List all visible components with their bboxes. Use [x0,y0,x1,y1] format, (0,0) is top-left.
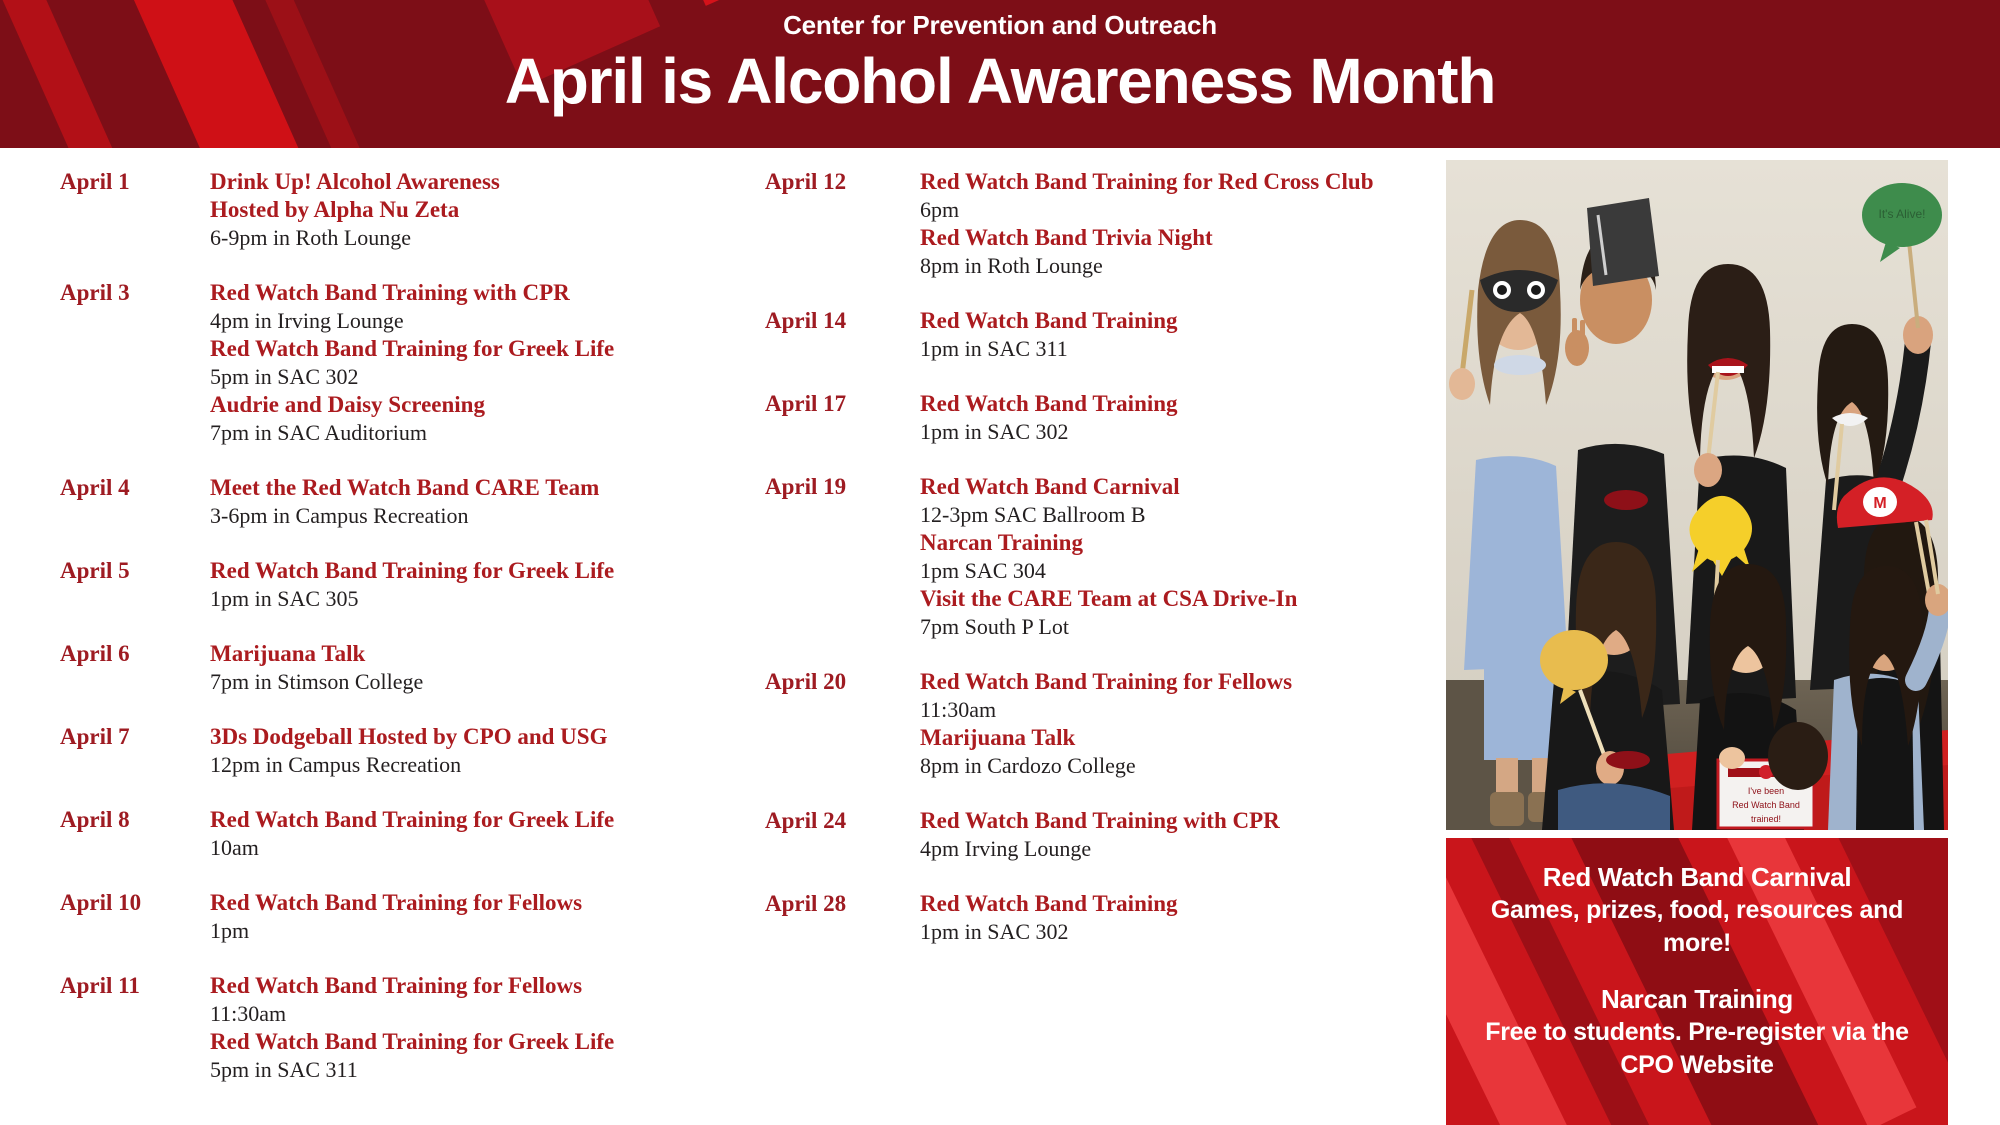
event-title: Visit the CARE Team at CSA Drive-In [920,585,1445,613]
event-row: April 11Red Watch Band Training for Fell… [60,972,760,1084]
event-title: Red Watch Band Training with CPR [920,807,1445,835]
event-detail: 1pm in SAC 302 [920,918,1445,946]
event-body: Red Watch Band Training for Greek Life1p… [210,557,760,613]
event-body: Red Watch Band Carnival12-3pm SAC Ballro… [920,473,1445,641]
event-date: April 4 [60,474,210,502]
event-date: April 11 [60,972,210,1000]
event-row: April 8Red Watch Band Training for Greek… [60,806,760,862]
event-row: April 3Red Watch Band Training with CPR4… [60,279,760,447]
event-date: April 14 [765,307,920,335]
event-detail: 7pm in Stimson College [210,668,760,696]
event-title: Narcan Training [920,529,1445,557]
event-row: April 17Red Watch Band Training1pm in SA… [765,390,1445,446]
event-date: April 19 [765,473,920,501]
svg-text:Red Watch Band: Red Watch Band [1732,800,1800,810]
event-date: April 28 [765,890,920,918]
event-date: April 20 [765,668,920,696]
event-body: Red Watch Band Training for Fellows1pm [210,889,760,945]
event-detail: 1pm [210,917,760,945]
event-title: Red Watch Band Training for Greek Life [210,806,760,834]
event-title: Marijuana Talk [920,724,1445,752]
event-detail: 12pm in Campus Recreation [210,751,760,779]
event-title: Red Watch Band Training [920,307,1445,335]
event-detail: 1pm in SAC 302 [920,418,1445,446]
page-title: April is Alcohol Awareness Month [505,45,1496,119]
event-title: Red Watch Band Training [920,890,1445,918]
event-body: Red Watch Band Training1pm in SAC 302 [920,890,1445,946]
event-detail: 8pm in Roth Lounge [920,252,1445,280]
event-detail: 1pm in SAC 305 [210,585,760,613]
event-title: Red Watch Band Training for Greek Life [210,1028,760,1056]
event-detail: 8pm in Cardozo College [920,752,1445,780]
event-detail: 5pm in SAC 311 [210,1056,760,1084]
event-title: Hosted by Alpha Nu Zeta [210,196,760,224]
event-date: April 6 [60,640,210,668]
event-row: April 20Red Watch Band Training for Fell… [765,668,1445,780]
event-detail: 4pm in Irving Lounge [210,307,760,335]
event-detail: 10am [210,834,760,862]
event-detail: 5pm in SAC 302 [210,363,760,391]
event-title: Red Watch Band Training for Fellows [210,972,760,1000]
group-photo: It's Alive! M [1446,160,1948,830]
event-detail: 11:30am [210,1000,760,1028]
header-subtitle: Center for Prevention and Outreach [783,10,1217,41]
event-detail: 7pm in SAC Auditorium [210,419,760,447]
event-row: April 24Red Watch Band Training with CPR… [765,807,1445,863]
event-title: 3Ds Dodgeball Hosted by CPO and USG [210,723,760,751]
event-date: April 5 [60,557,210,585]
event-date: April 24 [765,807,920,835]
event-body: 3Ds Dodgeball Hosted by CPO and USG12pm … [210,723,760,779]
event-title: Red Watch Band Training for Greek Life [210,557,760,585]
svg-text:trained!: trained! [1751,814,1781,824]
event-body: Red Watch Band Training1pm in SAC 311 [920,307,1445,363]
header-banner: Center for Prevention and Outreach April… [0,0,2000,148]
event-title: Marijuana Talk [210,640,760,668]
svg-text:M: M [1873,495,1886,512]
event-title: Red Watch Band Training for Fellows [210,889,760,917]
event-title: Audrie and Daisy Screening [210,391,760,419]
infobox-body-text: Free to students. Pre-register via the C… [1474,1016,1920,1082]
event-detail: 3-6pm in Campus Recreation [210,502,760,530]
event-row: April 14Red Watch Band Training1pm in SA… [765,307,1445,363]
event-title: Red Watch Band Training for Fellows [920,668,1445,696]
event-body: Red Watch Band Training for Fellows11:30… [920,668,1445,780]
event-detail: 4pm Irving Lounge [920,835,1445,863]
infobox-spacer [1474,960,1920,982]
event-detail: 11:30am [920,696,1445,724]
event-title: Red Watch Band Training for Red Cross Cl… [920,168,1445,196]
info-box: Red Watch Band CarnivalGames, prizes, fo… [1446,838,1948,1125]
event-title: Drink Up! Alcohol Awareness [210,168,760,196]
event-body: Marijuana Talk7pm in Stimson College [210,640,760,696]
event-row: April 28Red Watch Band Training1pm in SA… [765,890,1445,946]
event-date: April 7 [60,723,210,751]
events-column-right: April 12Red Watch Band Training for Red … [765,168,1445,946]
infobox-heading: Red Watch Band Carnival [1474,860,1920,894]
events-column-left: April 1Drink Up! Alcohol AwarenessHosted… [60,168,760,1084]
event-title: Red Watch Band Training with CPR [210,279,760,307]
event-detail: 7pm South P Lot [920,613,1445,641]
event-row: April 19Red Watch Band Carnival12-3pm SA… [765,473,1445,641]
event-body: Red Watch Band Training for Red Cross Cl… [920,168,1445,280]
event-row: April 5Red Watch Band Training for Greek… [60,557,760,613]
event-date: April 17 [765,390,920,418]
event-title: Meet the Red Watch Band CARE Team [210,474,760,502]
event-row: April 6Marijuana Talk7pm in Stimson Coll… [60,640,760,696]
event-date: April 3 [60,279,210,307]
event-row: April 10Red Watch Band Training for Fell… [60,889,760,945]
infobox-heading: Narcan Training [1474,982,1920,1016]
event-body: Meet the Red Watch Band CARE Team3-6pm i… [210,474,760,530]
svg-text:It's Alive!: It's Alive! [1879,207,1926,221]
event-row: April 4Meet the Red Watch Band CARE Team… [60,474,760,530]
event-body: Red Watch Band Training1pm in SAC 302 [920,390,1445,446]
event-date: April 12 [765,168,920,196]
event-row: April 1Drink Up! Alcohol AwarenessHosted… [60,168,760,252]
event-detail: 12-3pm SAC Ballroom B [920,501,1445,529]
person-partial-back [1768,722,1828,790]
event-date: April 8 [60,806,210,834]
svg-text:I've been: I've been [1748,786,1784,796]
event-detail: 6pm [920,196,1445,224]
poster-root: Center for Prevention and Outreach April… [0,0,2000,1125]
event-row: April 73Ds Dodgeball Hosted by CPO and U… [60,723,760,779]
event-title: Red Watch Band Training [920,390,1445,418]
event-body: Red Watch Band Training with CPR4pm in I… [210,279,760,447]
event-title: Red Watch Band Training for Greek Life [210,335,760,363]
event-detail: 6-9pm in Roth Lounge [210,224,760,252]
group-photo-image: It's Alive! M [1446,160,1948,830]
event-body: Red Watch Band Training with CPR4pm Irvi… [920,807,1445,863]
event-body: Red Watch Band Training for Fellows11:30… [210,972,760,1084]
event-detail: 1pm in SAC 311 [920,335,1445,363]
event-date: April 1 [60,168,210,196]
event-title: Red Watch Band Trivia Night [920,224,1445,252]
event-title: Red Watch Band Carnival [920,473,1445,501]
event-row: April 12Red Watch Band Training for Red … [765,168,1445,280]
event-body: Red Watch Band Training for Greek Life10… [210,806,760,862]
infobox-body-text: Games, prizes, food, resources and more! [1474,894,1920,960]
event-date: April 10 [60,889,210,917]
event-body: Drink Up! Alcohol AwarenessHosted by Alp… [210,168,760,252]
event-detail: 1pm SAC 304 [920,557,1445,585]
